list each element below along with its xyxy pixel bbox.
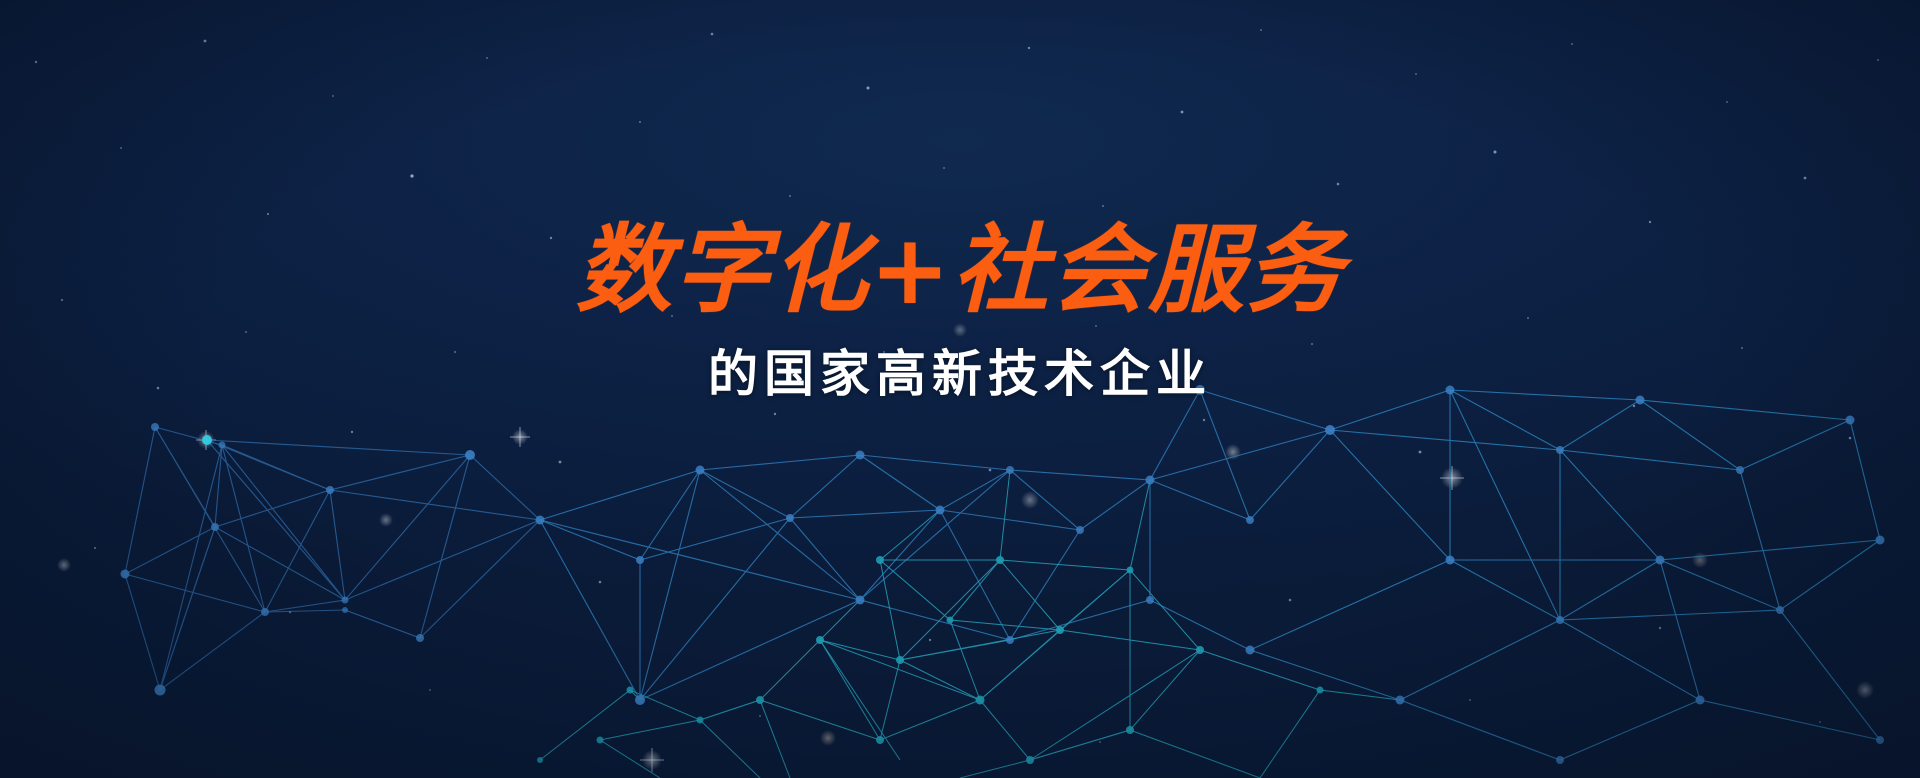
highlight-node: [202, 435, 212, 445]
page-subtitle: 的国家高新技术企业: [0, 318, 1920, 406]
mesh-edges-right: [1250, 390, 1880, 760]
mesh-edges-left: [125, 427, 540, 690]
banner-content: 数字化+社会服务 的国家高新技术企业: [0, 0, 1920, 406]
mesh-nodes-teal: [537, 556, 1324, 764]
page-title: 数字化+社会服务: [0, 0, 1920, 318]
hero-banner: 数字化+社会服务 的国家高新技术企业: [0, 0, 1920, 778]
mesh-nodes-blue: [121, 385, 1885, 764]
